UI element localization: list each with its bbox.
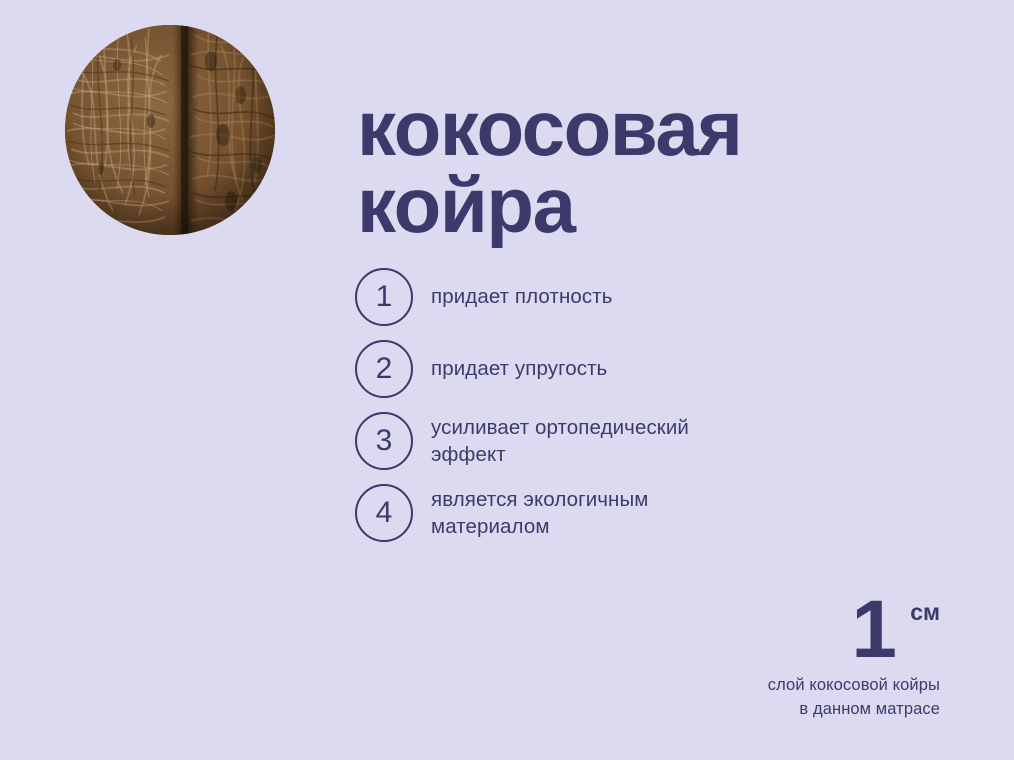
coir-texture-icon [65,25,275,235]
benefit-label: придает упругость [431,355,607,382]
benefits-list: 1 придает плотность 2 придает упругость … [355,268,775,542]
benefit-number-badge: 3 [355,412,413,470]
list-item: 2 придает упругость [355,340,775,398]
benefit-number-badge: 1 [355,268,413,326]
benefit-label: придает плотность [431,283,613,310]
list-item: 4 является экологичным материалом [355,484,775,542]
measurement-caption: слой кокосовой койры в данном матрасе [768,673,940,723]
benefit-number-badge: 2 [355,340,413,398]
measurement-unit: см [910,601,940,624]
benefit-number-badge: 4 [355,484,413,542]
coir-photo-circle [65,25,275,235]
measurement-value: 1см [851,595,940,666]
benefit-label: является экологичным материалом [431,486,648,540]
benefit-label: усиливает ортопедический эффект [431,414,689,468]
measurement-callout: 1см слой кокосовой койры в данном матрас… [768,595,940,722]
list-item: 3 усиливает ортопедический эффект [355,412,775,470]
list-item: 1 придает плотность [355,268,775,326]
slide-root: кокосовая койра 1 придает плотность 2 пр… [0,0,1014,760]
page-title: кокосовая койра [357,90,957,244]
